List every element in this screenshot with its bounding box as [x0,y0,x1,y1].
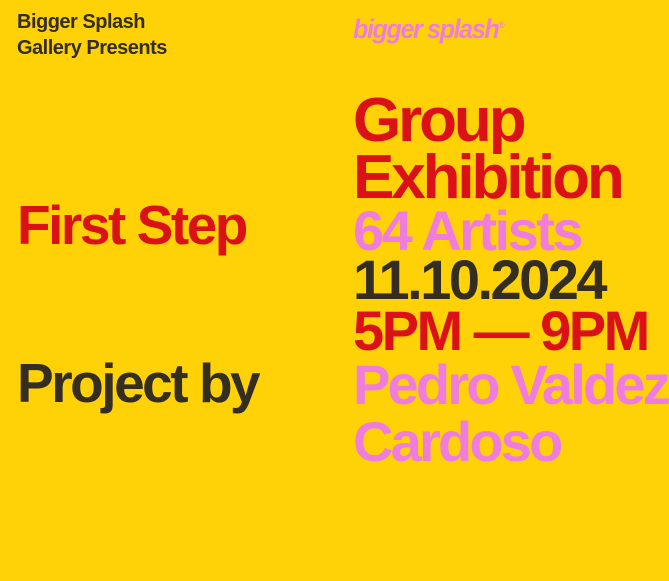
headline-line-2: Exhibition [353,149,622,206]
exhibition-title: First Step [17,198,246,253]
exhibition-title-text: First Step [17,198,246,253]
logo-wordmark-text: bigger splash® [353,12,504,43]
artist-name-line-1: Pedro Valdez [353,356,668,413]
presenter-line-1: Bigger Splash [17,9,167,35]
event-time-text: 5PM — 9PM [353,303,648,359]
headline-block: Group Exhibition [353,92,622,206]
event-time: 5PM — 9PM [353,303,648,359]
bigger-splash-logo: bigger splash® [353,12,504,43]
artist-name-line-2: Cardoso [353,413,668,470]
credit-label: Project by [17,356,258,411]
presenter-block: Bigger Splash Gallery Presents [17,9,167,61]
presenter-line-2: Gallery Presents [17,35,167,61]
registered-trademark-icon: ® [498,20,504,30]
headline-line-1: Group [353,92,622,149]
featured-artist-name: Pedro Valdez Cardoso [353,356,668,470]
poster-canvas: Bigger Splash Gallery Presents First Ste… [0,0,669,581]
logo-text: bigger splash [353,14,498,44]
credit-label-text: Project by [17,356,258,411]
